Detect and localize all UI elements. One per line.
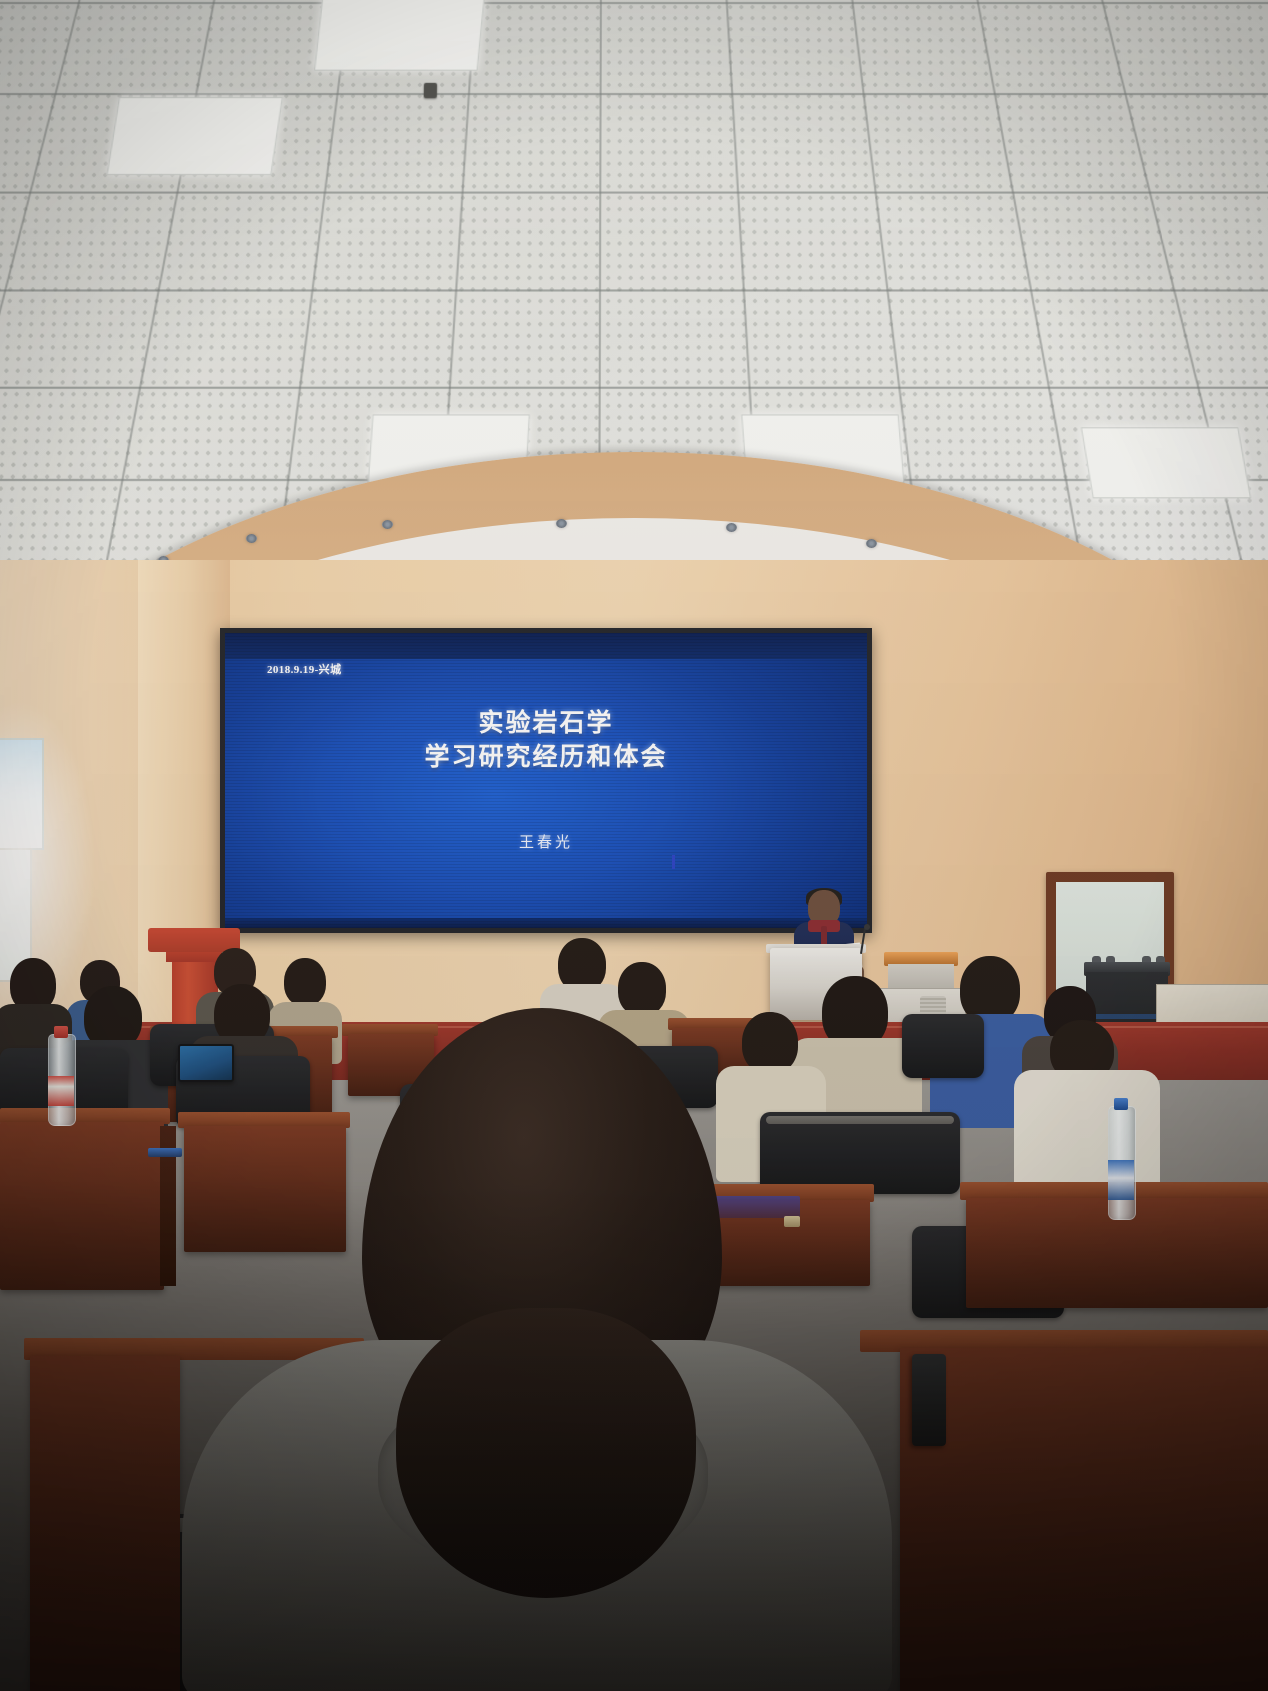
downlight-icon (866, 539, 877, 548)
slide-title-line-2: 学习研究经历和体会 (225, 741, 867, 775)
microphone-icon (864, 924, 870, 930)
desk (0, 1122, 164, 1290)
downlight-icon (382, 520, 393, 529)
slide-date-label: 2018.9.19-兴城 (267, 661, 341, 677)
downlight-icon (726, 523, 737, 532)
foreground-hair-over-shoulder (396, 1308, 696, 1598)
desk (30, 1356, 180, 1691)
slide-author: 王春光 (225, 831, 867, 852)
ceiling-light-panel (314, 0, 485, 71)
ceiling-light-panel (107, 97, 283, 175)
remote-on-desk[interactable] (912, 1354, 946, 1446)
downlight-icon (246, 534, 257, 543)
chair[interactable] (902, 1014, 984, 1078)
slide-title-line-1: 实验岩石学 (225, 707, 867, 741)
foreground-student (182, 1008, 892, 1691)
phone-on-desk[interactable] (148, 1148, 182, 1157)
bottle-cap-icon (54, 1026, 68, 1038)
downlight-icon (556, 519, 567, 528)
slide-title: 实验岩石学 学习研究经历和体会 (225, 707, 867, 774)
desk (900, 1348, 1268, 1691)
presentation-screen[interactable]: 2018.9.19-兴城 实验岩石学 学习研究经历和体会 王春光 (220, 628, 872, 933)
bottle-label (48, 1076, 74, 1106)
slide-text-cursor (672, 855, 675, 869)
bottle-label (1108, 1160, 1134, 1200)
bottle-cap-icon (1114, 1098, 1128, 1110)
led-pixel-texture (225, 633, 867, 928)
lecture-hall-photo: 2018.9.19-兴城 实验岩石学 学习研究经历和体会 王春光 (0, 0, 1268, 1691)
ceiling-sensor-icon (424, 83, 437, 98)
